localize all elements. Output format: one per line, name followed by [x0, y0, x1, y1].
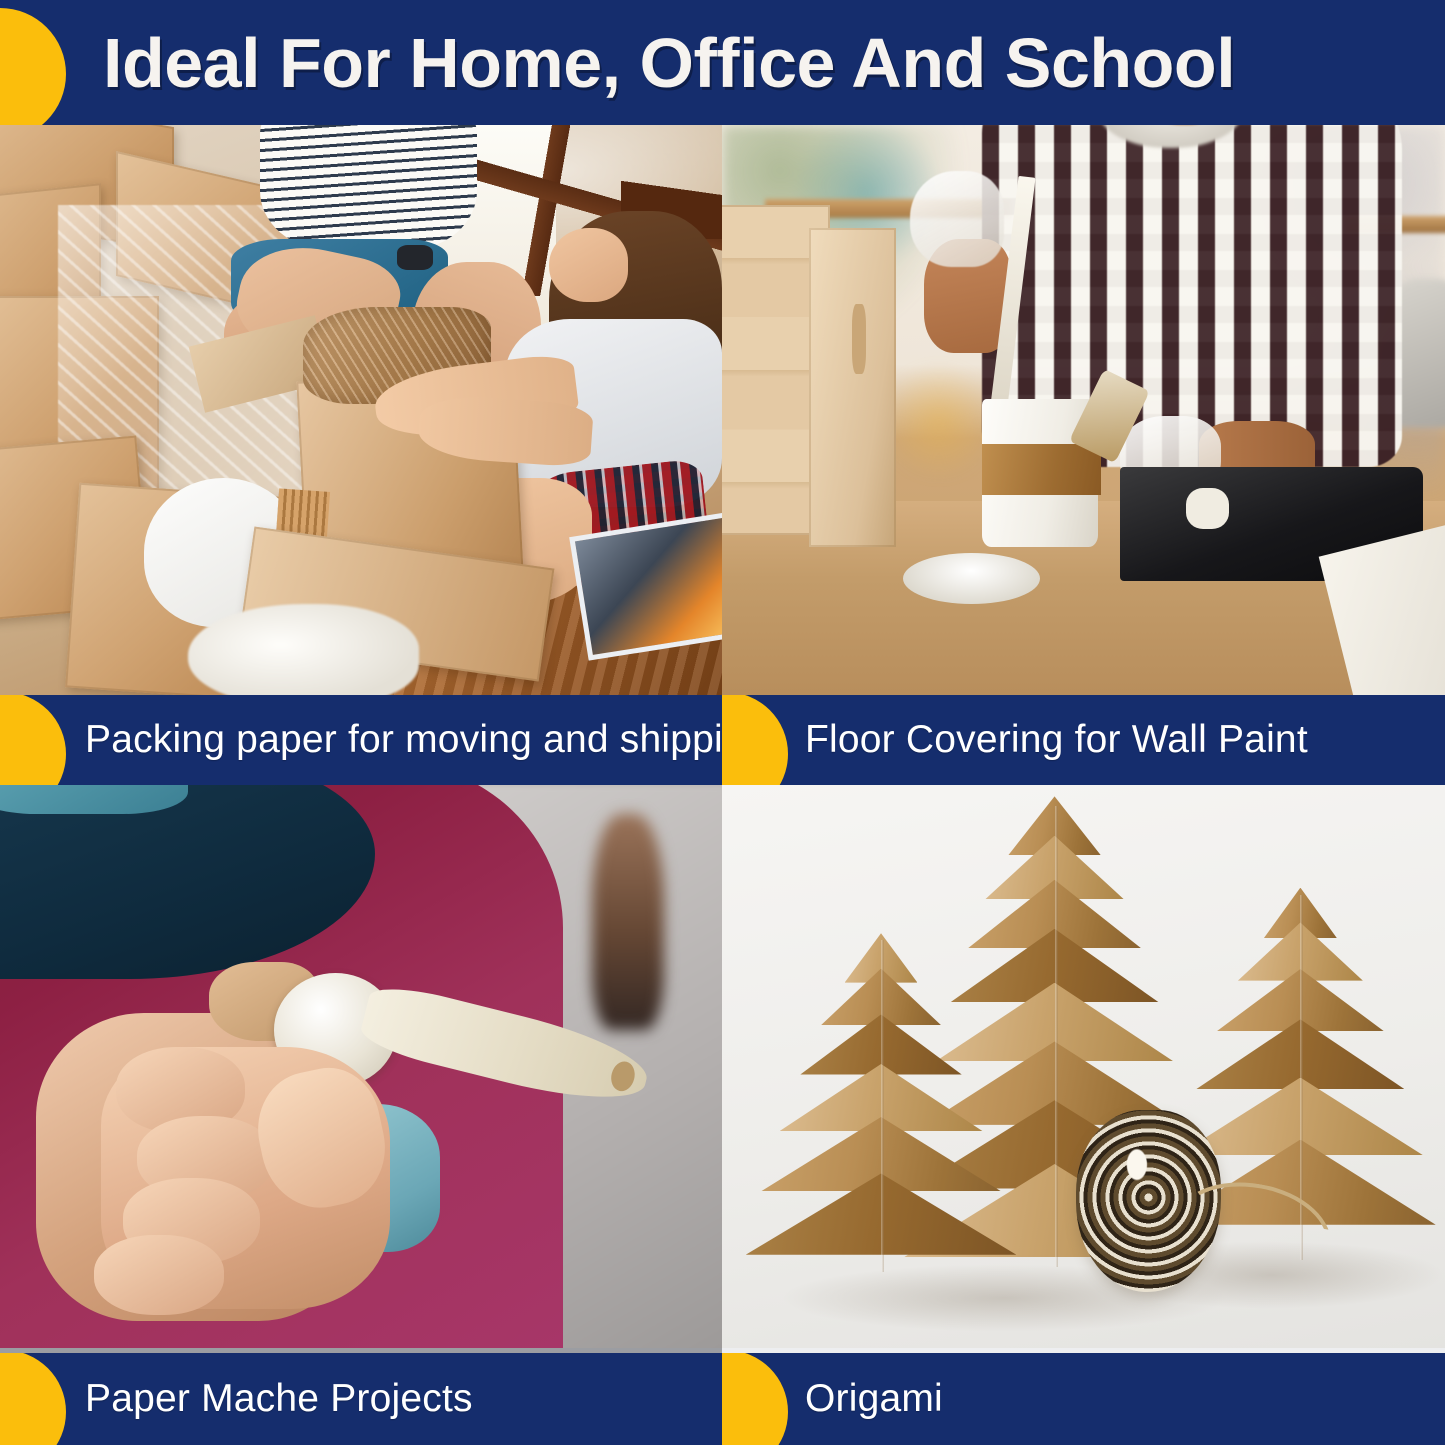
origami-tree-left: [751, 933, 1011, 1286]
caption-accent-circle-icon: [0, 695, 66, 785]
wristwatch: [397, 245, 433, 271]
man-striped-shirt: [260, 125, 477, 250]
header-banner: Ideal For Home, Office And School: [0, 0, 1445, 125]
framed-picture: [569, 512, 722, 661]
teal-collar: [0, 785, 188, 814]
panel-bottom-right: [722, 785, 1445, 1355]
caption-label-floor-covering: Floor Covering for Wall Paint: [805, 695, 1308, 785]
panel-seam: [722, 1348, 1445, 1353]
caption-accent-circle-icon: [722, 1353, 788, 1445]
caption-bar-top-left: Packing paper for moving and shipping: [0, 695, 722, 785]
caption-label-paper-mache: Paper Mache Projects: [85, 1353, 473, 1445]
page-title: Ideal For Home, Office And School: [103, 17, 1235, 109]
fur-blanket: [188, 604, 419, 695]
photo-floor-covering: [722, 125, 1445, 695]
photo-paper-mache: [0, 785, 722, 1355]
panel-top-left: [0, 125, 722, 695]
caption-bar-top-right: Floor Covering for Wall Paint: [722, 695, 1445, 785]
infographic-sheet: Ideal For Home, Office And School: [0, 0, 1445, 1445]
photo-packing-paper: [0, 125, 722, 695]
panel-bottom-left: [0, 785, 722, 1355]
caption-label-packing: Packing paper for moving and shipping: [85, 695, 722, 785]
finger: [94, 1235, 224, 1315]
panel-top-right: [722, 125, 1445, 695]
caption-label-origami: Origami: [805, 1353, 943, 1445]
caption-accent-circle-icon: [722, 695, 788, 785]
kraft-tape-band: [982, 444, 1101, 495]
panel-seam: [0, 1348, 722, 1353]
latex-glove: [910, 171, 1004, 268]
caption-bar-bottom-left: Paper Mache Projects: [0, 1353, 722, 1445]
woman-face: [549, 228, 628, 302]
blurred-figure: [592, 814, 664, 1031]
paint-can-lid: [903, 553, 1040, 604]
header-accent-circle-icon: [0, 8, 66, 125]
photo-origami: [722, 785, 1445, 1355]
caption-accent-circle-icon: [0, 1353, 66, 1445]
caption-bar-bottom-right: Origami: [722, 1353, 1445, 1445]
wooden-crate: [809, 228, 896, 547]
